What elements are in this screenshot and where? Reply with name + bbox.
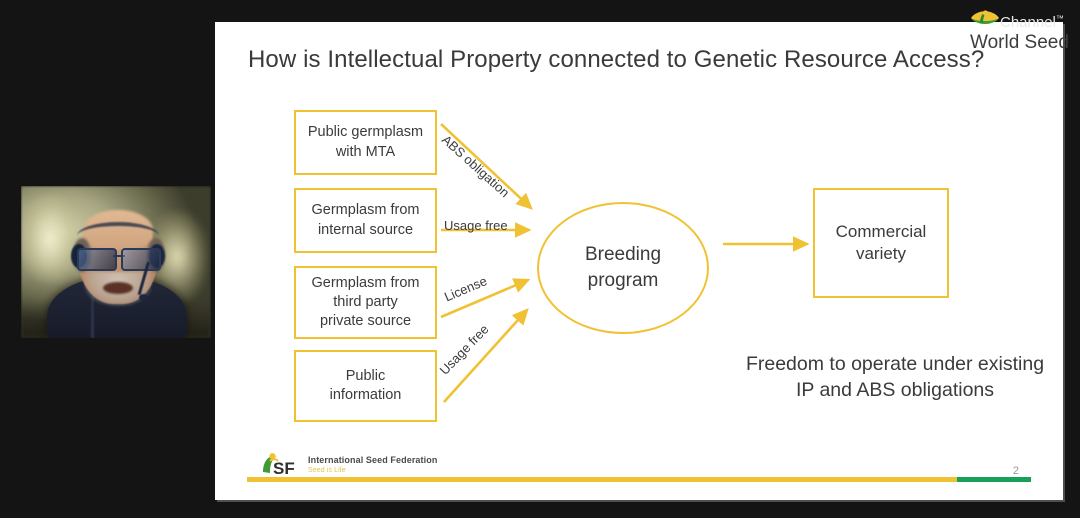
headset-microphone-icon xyxy=(139,294,148,301)
participant-mouth xyxy=(103,282,133,294)
box-label: Public germplasm with MTA xyxy=(308,123,423,161)
box-label: Germplasm from internal source xyxy=(312,201,420,239)
headset-band xyxy=(77,222,159,250)
box-public-information[interactable]: Public information xyxy=(294,350,437,422)
isf-org-name: International Seed Federation xyxy=(308,456,437,465)
isf-tagline: Seed is Life xyxy=(308,467,437,474)
box-label: Germplasm from third party private sourc… xyxy=(312,274,420,331)
box-germplasm-third-party[interactable]: Germplasm from third party private sourc… xyxy=(294,266,437,339)
page-title: How is Intellectual Property connected t… xyxy=(248,46,1028,74)
slide-page-number: 2 xyxy=(1013,465,1019,477)
arrow-label-usage-free-internal: Usage free xyxy=(444,218,508,233)
participant-video-tile[interactable] xyxy=(21,186,211,338)
node-breeding-program[interactable]: Breeding program xyxy=(537,202,709,334)
trademark-symbol: ™ xyxy=(1056,14,1064,23)
svg-text:SF: SF xyxy=(273,459,295,478)
arrow-label-license: License xyxy=(442,273,489,304)
box-commercial-variety[interactable]: Commercial variety xyxy=(813,188,949,298)
world-seed-channel-watermark: Channel™ World Seed xyxy=(970,6,1074,54)
box-public-germplasm-mta[interactable]: Public germplasm with MTA xyxy=(294,110,437,175)
meeting-stage: How is Intellectual Property connected t… xyxy=(0,0,1080,518)
conclusion-text: Freedom to operate under existing IP and… xyxy=(735,352,1055,403)
box-germplasm-internal[interactable]: Germplasm from internal source xyxy=(294,188,437,253)
slide-bottom-bar xyxy=(247,477,1031,482)
seed-eye-logo-icon xyxy=(970,8,1000,27)
isf-branding: SF International Seed Federation Seed is… xyxy=(259,452,437,478)
box-label: Public information xyxy=(330,367,402,405)
background-light-left xyxy=(23,196,77,282)
presentation-slide[interactable]: How is Intellectual Property connected t… xyxy=(215,22,1063,500)
arrow-label-abs-obligation: ABS obligation xyxy=(439,132,512,200)
arrow-label-usage-free-public: Usage free xyxy=(437,322,492,378)
watermark-line1: Channel™ xyxy=(1000,14,1064,31)
isf-logo-icon: SF xyxy=(259,452,303,478)
node-label: Breeding program xyxy=(585,242,661,293)
shirt-collar xyxy=(91,296,94,338)
box-label: Commercial variety xyxy=(836,221,927,266)
watermark-line2: World Seed xyxy=(970,32,1069,54)
slide-bottom-bar-accent xyxy=(957,477,1031,482)
